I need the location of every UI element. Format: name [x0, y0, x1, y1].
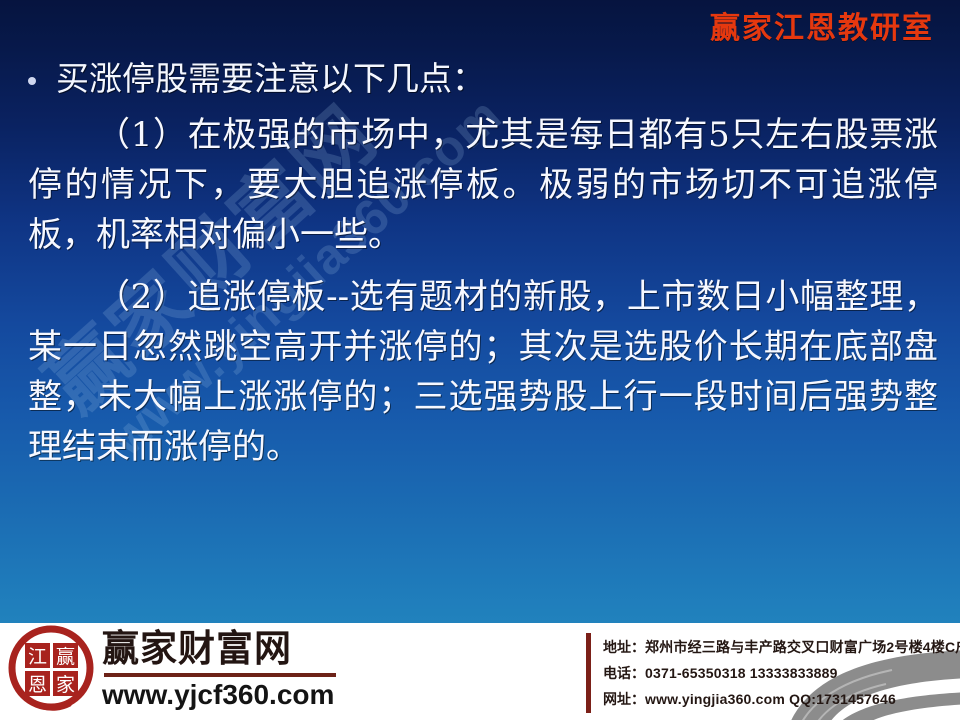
- page-title: 赢家江恩教研室: [710, 14, 934, 44]
- slide-body-background: 赢家财富网 www.yingjia360.com 赢家江恩教研室 买涨停股需要注…: [0, 0, 960, 623]
- slide-content: 买涨停股需要注意以下几点： （1）在极强的市场中，尤其是每日都有5只左右股票涨停…: [0, 56, 960, 472]
- footer-bar: 江 赢 恩 家 赢家财富网 www.yjcf360.com 地址：郑州市经三路与…: [0, 623, 960, 720]
- bullet-dot-icon: [28, 77, 36, 85]
- contact-lines: 地址：郑州市经三路与丰产路交叉口财富广场2号楼4楼C户 电话：0371-6535…: [603, 633, 960, 713]
- contact-row-phone: 电话：0371-65350318 13333833889: [603, 661, 960, 687]
- contact-phone-label: 电话：: [603, 666, 645, 682]
- contact-divider-bar: [586, 633, 591, 713]
- svg-text:家: 家: [56, 674, 75, 696]
- contact-phone-value: 0371-65350318 13333833889: [645, 665, 838, 681]
- bullet-list-item: 买涨停股需要注意以下几点：: [0, 56, 960, 102]
- contact-address-label: 地址：: [603, 640, 645, 656]
- seal-logo-icon: 江 赢 恩 家: [8, 625, 94, 711]
- svg-text:江: 江: [28, 646, 47, 668]
- brand-website-link[interactable]: www.yjcf360.com: [102, 679, 336, 711]
- brand-logo-block[interactable]: 江 赢 恩 家 赢家财富网 www.yjcf360.com: [8, 625, 336, 711]
- brand-text-block: 赢家财富网 www.yjcf360.com: [102, 626, 336, 711]
- paragraph-2: （2）追涨停板--选有题材的新股，上市数日小幅整理，某一日忽然跳空高开并涨停的；…: [0, 272, 960, 472]
- brand-divider: [104, 673, 336, 677]
- brand-name-label: 赢家财富网: [102, 628, 336, 670]
- contact-row-address: 地址：郑州市经三路与丰产路交叉口财富广场2号楼4楼C户: [603, 635, 960, 661]
- contact-row-website: 网址：www.yingjia360.com QQ:1731457646: [603, 687, 960, 713]
- slide-canvas: 赢家财富网 www.yingjia360.com 赢家江恩教研室 买涨停股需要注…: [0, 0, 960, 720]
- contact-website-label: 网址：: [603, 692, 645, 708]
- paragraph-1: （1）在极强的市场中，尤其是每日都有5只左右股票涨停的情况下，要大胆追涨停板。极…: [0, 110, 960, 260]
- contact-info-block: 地址：郑州市经三路与丰产路交叉口财富广场2号楼4楼C户 电话：0371-6535…: [586, 633, 960, 713]
- contact-address-value: 郑州市经三路与丰产路交叉口财富广场2号楼4楼C户: [645, 639, 960, 655]
- svg-text:恩: 恩: [28, 674, 47, 696]
- contact-website-value[interactable]: www.yingjia360.com QQ:1731457646: [645, 691, 896, 707]
- svg-text:赢: 赢: [56, 646, 75, 668]
- bullet-item-label: 买涨停股需要注意以下几点：: [56, 59, 485, 98]
